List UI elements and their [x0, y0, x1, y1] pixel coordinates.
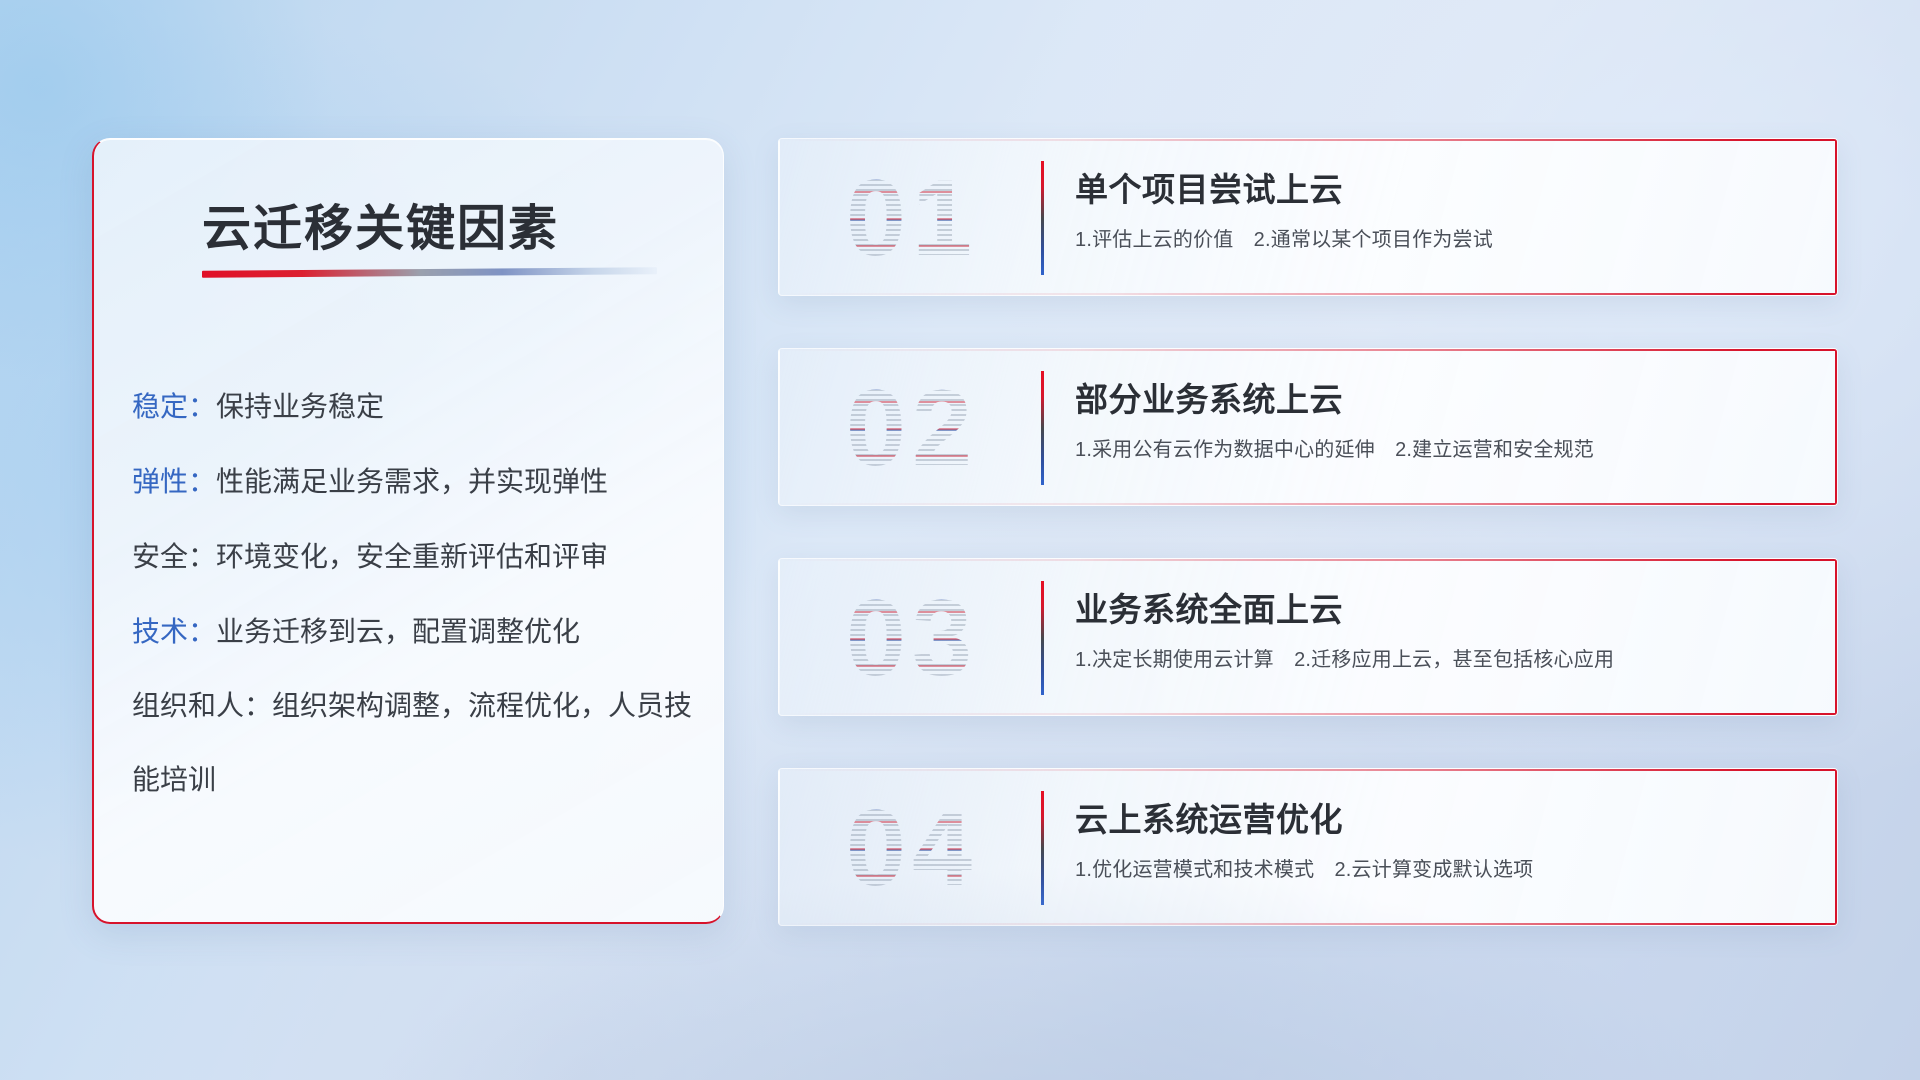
step-body: 单个项目尝试上云 1.评估上云的价值 2.通常以某个项目作为尝试 — [1075, 165, 1813, 255]
step-number-base: 02 — [846, 374, 978, 482]
factor-text: 性能满足业务需求，并实现弹性 — [216, 466, 608, 497]
card-left-rail — [779, 769, 780, 925]
card-left-rail — [779, 139, 780, 295]
card-bottom-rail — [779, 503, 1837, 505]
factor-label: 安全： — [132, 541, 216, 572]
title-underline-rule — [202, 267, 657, 278]
list-item: 组织和人：组织架构调整，流程优化，人员技能培训 — [132, 669, 704, 817]
step-title: 单个项目尝试上云 — [1075, 165, 1813, 215]
step-number-glyph: 03 03 — [797, 575, 1027, 701]
step-number-base: 03 — [846, 584, 978, 692]
step-body: 业务系统全面上云 1.决定长期使用云计算 2.迁移应用上云，甚至包括核心应用 — [1075, 585, 1813, 675]
step-description: 1.优化运营模式和技术模式 2.云计算变成默认选项 — [1075, 855, 1813, 885]
list-item: 安全：环境变化，安全重新评估和评审 — [132, 519, 704, 594]
step-card-02[interactable]: 02 02 部分业务系统上云 1.采用公有云作为数据中心的延伸 2.建立运营和安… — [778, 348, 1838, 506]
step-title: 部分业务系统上云 — [1075, 375, 1813, 425]
list-item: 稳定：保持业务稳定 — [132, 369, 704, 444]
step-divider-bar — [1041, 161, 1044, 275]
step-number-accent: 01 — [846, 164, 978, 272]
step-title: 业务系统全面上云 — [1075, 585, 1813, 635]
key-factors-panel: 云迁移关键因素 稳定：保持业务稳定 弹性：性能满足业务需求，并实现弹性 安全：环… — [92, 138, 724, 924]
list-item: 技术：业务迁移到云，配置调整优化 — [132, 594, 704, 669]
step-divider-bar — [1041, 371, 1044, 485]
card-right-rail — [1835, 349, 1837, 505]
card-bottom-rail — [779, 923, 1837, 925]
card-bottom-rail — [779, 713, 1837, 715]
step-card-01[interactable]: 01 01 单个项目尝试上云 1.评估上云的价值 2.通常以某个项目作为尝试 — [778, 138, 1838, 296]
step-card-04[interactable]: 04 04 云上系统运营优化 1.优化运营模式和技术模式 2.云计算变成默认选项 — [778, 768, 1838, 926]
factor-label: 组织和人： — [132, 690, 272, 721]
step-description: 1.决定长期使用云计算 2.迁移应用上云，甚至包括核心应用 — [1075, 645, 1813, 675]
card-top-rail — [779, 769, 1837, 771]
card-top-rail — [779, 559, 1837, 561]
step-number-glyph: 02 02 — [797, 365, 1027, 491]
step-number-glyph: 04 04 — [797, 785, 1027, 911]
step-divider-bar — [1041, 581, 1044, 695]
step-number-base: 04 — [846, 794, 978, 902]
card-right-rail — [1835, 139, 1837, 295]
factor-text: 保持业务稳定 — [216, 391, 384, 422]
factor-list: 稳定：保持业务稳定 弹性：性能满足业务需求，并实现弹性 安全：环境变化，安全重新… — [132, 369, 704, 817]
slide-canvas: 云迁移关键因素 稳定：保持业务稳定 弹性：性能满足业务需求，并实现弹性 安全：环… — [0, 0, 1920, 1080]
page-title: 云迁移关键因素 — [202, 189, 559, 260]
factor-text: 业务迁移到云，配置调整优化 — [216, 616, 580, 647]
migration-stage-list: 01 01 单个项目尝试上云 1.评估上云的价值 2.通常以某个项目作为尝试 0… — [778, 138, 1838, 978]
step-body: 云上系统运营优化 1.优化运营模式和技术模式 2.云计算变成默认选项 — [1075, 795, 1813, 885]
card-bottom-rail — [779, 293, 1837, 295]
card-left-rail — [779, 559, 780, 715]
step-divider-bar — [1041, 791, 1044, 905]
list-item: 弹性：性能满足业务需求，并实现弹性 — [132, 444, 704, 519]
step-card-03[interactable]: 03 03 业务系统全面上云 1.决定长期使用云计算 2.迁移应用上云，甚至包括… — [778, 558, 1838, 716]
factor-text: 环境变化，安全重新评估和评审 — [216, 541, 608, 572]
step-number-accent: 04 — [846, 794, 978, 902]
card-top-rail — [779, 349, 1837, 351]
step-number-accent: 03 — [846, 584, 978, 692]
step-description: 1.采用公有云作为数据中心的延伸 2.建立运营和安全规范 — [1075, 435, 1813, 465]
factor-label: 技术： — [132, 616, 216, 647]
step-title: 云上系统运营优化 — [1075, 795, 1813, 845]
step-number-accent: 02 — [846, 374, 978, 482]
step-number-base: 01 — [846, 164, 978, 272]
step-number-glyph: 01 01 — [797, 155, 1027, 281]
card-top-rail — [779, 139, 1837, 141]
factor-label: 稳定： — [132, 391, 216, 422]
step-description: 1.评估上云的价值 2.通常以某个项目作为尝试 — [1075, 225, 1813, 255]
step-body: 部分业务系统上云 1.采用公有云作为数据中心的延伸 2.建立运营和安全规范 — [1075, 375, 1813, 465]
card-right-rail — [1835, 769, 1837, 925]
card-right-rail — [1835, 559, 1837, 715]
card-left-rail — [779, 349, 780, 505]
factor-label: 弹性： — [132, 466, 216, 497]
